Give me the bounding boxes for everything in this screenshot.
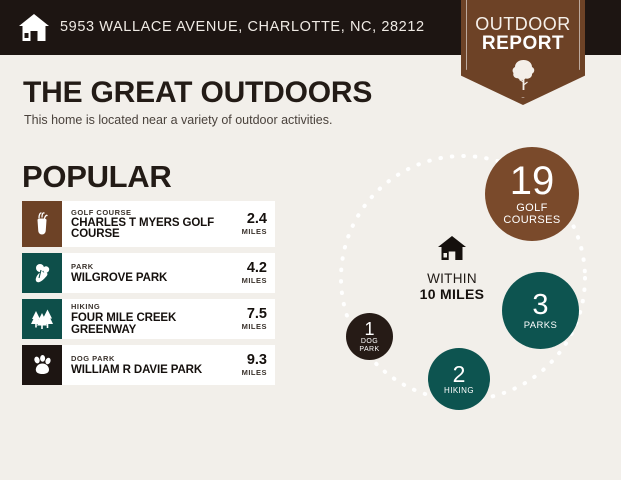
badge-title-line1: OUTDOOR [461,14,585,35]
list-item-name: WILLIAM R DAVIE PARK [71,364,223,377]
distance-value: 4.2 [247,261,267,276]
bubble-parks[interactable]: 3 PARKS [502,272,579,349]
bubble-label-line1: DOG [361,338,378,345]
list-item[interactable]: DOG PARK WILLIAM R DAVIE PARK 9.3 MILES [22,345,275,385]
list-item-name: CHARLES T MYERS GOLF COURSE [71,218,223,241]
tree-icon [511,58,536,91]
bubble-hiking[interactable]: 2 HIKING [428,348,490,410]
bubble-value: 3 [532,291,548,320]
outdoor-report-badge: OUTDOOR REPORT [461,0,585,105]
list-item-text: GOLF COURSE CHARLES T MYERS GOLF COURSE [62,201,223,247]
bubble-label: PARKS [524,321,558,331]
list-item-category: GOLF COURSE [71,208,223,218]
bubble-label-line2: COURSES [503,215,560,227]
bubble-label-line2: PARK [359,346,379,353]
outdoor-report-page: 5953 WALLACE AVENUE, CHARLOTTE, NC, 2821… [0,0,621,480]
home-icon [18,13,50,42]
center-label-line2: 10 MILES [397,286,507,302]
list-item[interactable]: PARK WILGROVE PARK 4.2 MILES [22,253,275,293]
center-label-line1: WITHIN [397,271,507,286]
list-item-text: HIKING FOUR MILE CREEK GREENWAY [62,299,223,339]
bubble-value: 19 [510,161,555,201]
bubble-value: 2 [453,363,466,386]
chart-center-label: WITHIN 10 MILES [397,235,507,302]
pine-trees-icon [22,299,62,339]
bubble-dog-park[interactable]: 1 DOG PARK [346,313,393,360]
list-item-distance: 7.5 MILES [223,299,275,339]
list-item-category: DOG PARK [71,354,223,364]
distance-unit: MILES [242,276,267,286]
page-title: THE GREAT OUTDOORS [23,76,372,110]
bubble-value: 1 [364,320,374,338]
list-item-distance: 2.4 MILES [223,201,275,247]
paw-print-icon [22,345,62,385]
distance-unit: MILES [242,227,267,237]
park-tree-icon [22,253,62,293]
home-icon [397,235,507,266]
list-item-distance: 9.3 MILES [223,345,275,385]
bubble-label: HIKING [444,387,474,395]
bubble-golf-courses[interactable]: 19 GOLF COURSES [485,147,579,241]
list-item-text: DOG PARK WILLIAM R DAVIE PARK [62,345,223,385]
golf-icon [22,201,62,247]
page-subtitle: This home is located near a variety of o… [24,113,332,127]
list-item-name: FOUR MILE CREEK GREENWAY [71,312,223,337]
distance-value: 2.4 [247,212,267,227]
badge-title-line2: REPORT [461,33,585,55]
distance-unit: MILES [242,368,267,378]
within-10-miles-bubble-chart: 19 GOLF COURSES 3 PARKS 2 HIKING 1 DOG P… [325,135,610,420]
distance-value: 9.3 [247,353,267,368]
list-item-text: PARK WILGROVE PARK [62,253,223,293]
footer-bar: ListReports DISCLAIMER: The information … [0,425,621,480]
list-item[interactable]: GOLF COURSE CHARLES T MYERS GOLF COURSE … [22,201,275,247]
property-address: 5953 WALLACE AVENUE, CHARLOTTE, NC, 2821… [60,19,425,35]
list-item-category: PARK [71,262,223,272]
popular-list: GOLF COURSE CHARLES T MYERS GOLF COURSE … [22,201,275,391]
list-item-distance: 4.2 MILES [223,253,275,293]
popular-heading: POPULAR [22,159,171,195]
distance-value: 7.5 [247,307,267,322]
distance-unit: MILES [242,322,267,332]
list-item-category: HIKING [71,302,223,312]
list-item[interactable]: HIKING FOUR MILE CREEK GREENWAY 7.5 MILE… [22,299,275,339]
list-item-name: WILGROVE PARK [71,272,223,285]
